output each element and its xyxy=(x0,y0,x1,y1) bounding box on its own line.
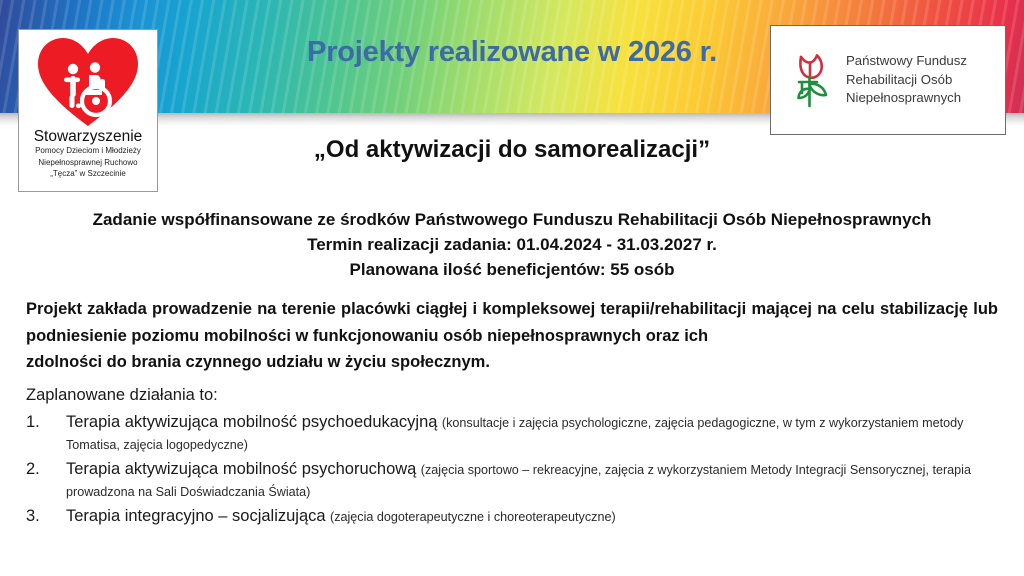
actions-intro: Zaplanowane działania to: xyxy=(26,386,218,405)
description-last-line: zdolności do brania czynnego udziału w ż… xyxy=(26,349,998,376)
project-description: Projekt zakłada prowadzenie na terenie p… xyxy=(26,296,998,376)
pfron-line-3: Niepełnosprawnych xyxy=(846,89,967,108)
list-item-number: 2. xyxy=(26,459,66,481)
funding-line-cofinancing: Zadanie współfinansowane ze środków Pańs… xyxy=(0,208,1024,233)
association-name: Stowarzyszenie xyxy=(34,129,143,145)
list-item: 3. Terapia integracyjno – socjalizująca … xyxy=(26,506,996,528)
association-subtitle-line-2: Niepełnosprawnej Ruchowo xyxy=(38,158,137,169)
funding-line-beneficiaries: Planowana ilość beneficjentów: 55 osób xyxy=(0,258,1024,283)
pfron-logo-text: Państwowy Fundusz Rehabilitacji Osób Nie… xyxy=(846,52,967,108)
funding-line-period: Termin realizacji zadania: 01.04.2024 - … xyxy=(0,233,1024,258)
list-item: 2. Terapia aktywizująca mobilność psycho… xyxy=(26,459,996,502)
pfron-line-1: Państwowy Fundusz xyxy=(846,52,967,71)
list-item-number: 1. xyxy=(26,412,66,434)
association-logo: Stowarzyszenie Pomocy Dzieciom i Młodzie… xyxy=(18,29,158,192)
actions-list: 1. Terapia aktywizująca mobilność psycho… xyxy=(26,412,996,532)
list-item-body: Terapia aktywizująca mobilność psychoruc… xyxy=(66,459,996,502)
list-item-title: Terapia aktywizująca mobilność psychoedu… xyxy=(66,413,437,431)
list-item-body: Terapia integracyjno – socjalizująca (za… xyxy=(66,506,996,528)
list-item-title: Terapia aktywizująca mobilność psychoruc… xyxy=(66,460,416,478)
list-item-body: Terapia aktywizująca mobilność psychoedu… xyxy=(66,412,996,455)
tulip-icon xyxy=(793,51,835,109)
association-subtitle-line-3: „Tęcza” w Szczecinie xyxy=(50,169,126,180)
association-subtitle-line-1: Pomocy Dzieciom i Młodzieży xyxy=(35,146,141,157)
description-body: Projekt zakłada prowadzenie na terenie p… xyxy=(26,300,998,345)
list-item-number: 3. xyxy=(26,506,66,528)
pfron-logo: Państwowy Fundusz Rehabilitacji Osób Nie… xyxy=(770,25,1006,135)
list-item-title: Terapia integracyjno – socjalizująca xyxy=(66,507,326,525)
heart-with-wheelchair-icon xyxy=(36,36,140,128)
list-item: 1. Terapia aktywizująca mobilność psycho… xyxy=(26,412,996,455)
pfron-line-2: Rehabilitacji Osób xyxy=(846,71,967,90)
funding-info: Zadanie współfinansowane ze środków Pańs… xyxy=(0,208,1024,283)
list-item-note: (zajęcia dogoterapeutyczne i choreoterap… xyxy=(330,510,616,524)
